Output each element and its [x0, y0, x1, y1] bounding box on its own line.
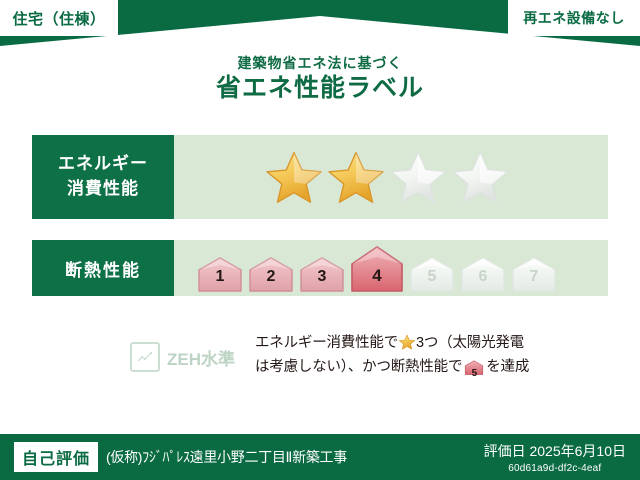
zeh-desc-line1-prefix: エネルギー消費性能で: [255, 335, 398, 351]
insulation-level-scale: 1 2: [196, 244, 558, 292]
self-evaluation-badge: 自己評価: [14, 442, 98, 472]
insulation-level-4-achieved: 4: [349, 244, 405, 292]
zeh-desc-star-count: 3つ（太陽光発電: [416, 335, 524, 351]
insulation-level-6-number: 6: [459, 268, 507, 286]
evaluation-date: 評価日 2025年6月10日: [484, 441, 626, 461]
insulation-level-2-number: 2: [247, 268, 295, 286]
energy-performance-rating-area: [174, 135, 608, 219]
energy-performance-label: 住宅（住棟） 再エネ設備なし 建築物省エネ法に基づく 省エネ性能ラベル エネルギ…: [0, 0, 640, 480]
insulation-badge-inline: 5: [464, 359, 484, 384]
zeh-desc-line2-suffix: を達成: [486, 359, 529, 375]
star-icon-empty-4: [452, 150, 508, 204]
insulation-badge-inline-number: 5: [464, 366, 484, 383]
energy-performance-label-line1: エネルギー: [58, 152, 148, 177]
insulation-level-4-number: 4: [349, 266, 405, 286]
footer-left-group: 自己評価 (仮称)ﾌｼﾞﾊﾟﾚｽ遠里小野二丁目Ⅱ新築工事: [14, 442, 347, 472]
insulation-level-1: 1: [196, 254, 244, 292]
label-title-block: 建築物省エネ法に基づく 省エネ性能ラベル: [0, 56, 640, 103]
zeh-standard-row: ZEH水準 エネルギー消費性能で3つ（太陽光発電 は考慮しない）、かつ断熱性能で…: [32, 330, 608, 394]
insulation-level-3: 3: [298, 254, 346, 292]
footer-right-group: 評価日 2025年6月10日 60d61a9d-df2c-4eaf: [484, 441, 626, 474]
project-name: (仮称)ﾌｼﾞﾊﾟﾚｽ遠里小野二丁目Ⅱ新築工事: [106, 447, 347, 467]
insulation-level-5-number: 5: [408, 268, 456, 286]
energy-performance-panel: エネルギー 消費性能: [32, 135, 608, 219]
insulation-level-5: 5: [408, 254, 456, 292]
insulation-performance-panel: 断熱性能 1: [32, 240, 608, 296]
renewable-equipment-label: 再エネ設備なし: [523, 8, 625, 28]
insulation-level-1-number: 1: [196, 268, 244, 286]
star-rating: [266, 150, 508, 204]
energy-performance-label-box: エネルギー 消費性能: [32, 135, 174, 219]
star-icon-filled-1: [266, 150, 322, 204]
renewable-equipment-badge: 再エネ設備なし: [508, 0, 640, 36]
insulation-performance-label: 断熱性能: [65, 256, 141, 281]
insulation-level-2: 2: [247, 254, 295, 292]
title-main: 省エネ性能ラベル: [0, 75, 640, 103]
building-type-label: 住宅（住棟）: [12, 8, 105, 29]
star-icon-filled-2: [328, 150, 384, 204]
title-subtitle: 建築物省エネ法に基づく: [0, 56, 640, 71]
zeh-description: エネルギー消費性能で3つ（太陽光発電 は考慮しない）、かつ断熱性能で5を達成: [255, 332, 529, 384]
label-footer: 自己評価 (仮称)ﾌｼﾞﾊﾟﾚｽ遠里小野二丁目Ⅱ新築工事 評価日 2025年6月…: [0, 434, 640, 480]
insulation-level-7-number: 7: [510, 268, 558, 286]
insulation-level-3-number: 3: [298, 268, 346, 286]
insulation-performance-scale-area: 1 2: [174, 240, 608, 296]
energy-performance-label-line2: 消費性能: [67, 177, 139, 202]
zeh-desc-line2-prefix: は考慮しない）、かつ断熱性能で: [255, 359, 462, 375]
zeh-mark-label: ZEH水準: [167, 345, 235, 370]
star-icon-inline: [399, 334, 415, 350]
zeh-mark: ZEH水準: [130, 342, 235, 372]
insulation-performance-label-box: 断熱性能: [32, 240, 174, 296]
insulation-level-6: 6: [459, 254, 507, 292]
insulation-level-7: 7: [510, 254, 558, 292]
evaluation-id: 60d61a9d-df2c-4eaf: [484, 463, 626, 474]
building-type-badge: 住宅（住棟）: [0, 0, 118, 36]
zeh-chart-icon: [130, 342, 160, 372]
star-icon-empty-3: [390, 150, 446, 204]
